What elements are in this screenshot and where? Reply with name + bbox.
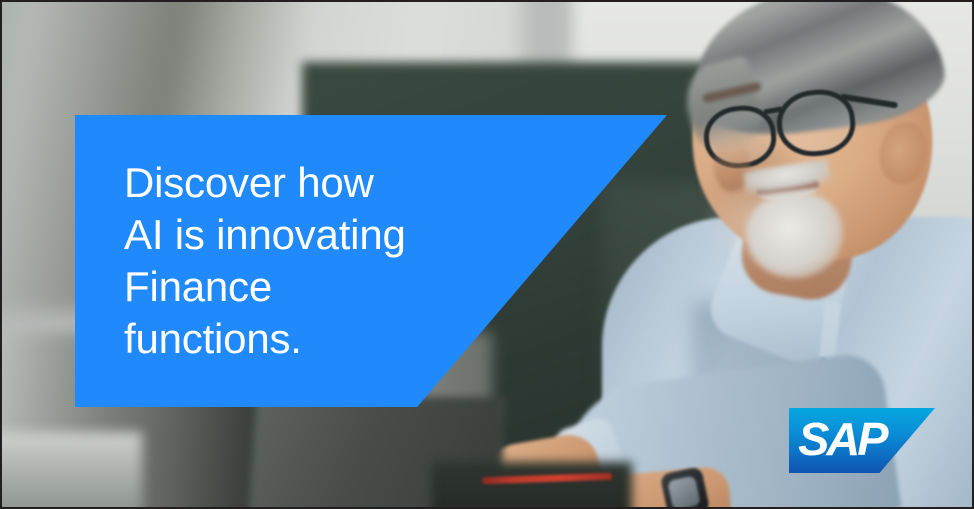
headline-text: Discover how AI is innovating Finance fu… <box>124 157 406 365</box>
sap-wordmark: SAP <box>798 415 885 463</box>
sap-logo: SAP <box>789 408 935 473</box>
headline-banner: Discover how AI is innovating Finance fu… <box>75 115 667 407</box>
laptop-keyboard <box>432 462 632 507</box>
foreground-shelf <box>2 432 142 507</box>
marketing-banner-image: Discover how AI is innovating Finance fu… <box>0 0 974 509</box>
